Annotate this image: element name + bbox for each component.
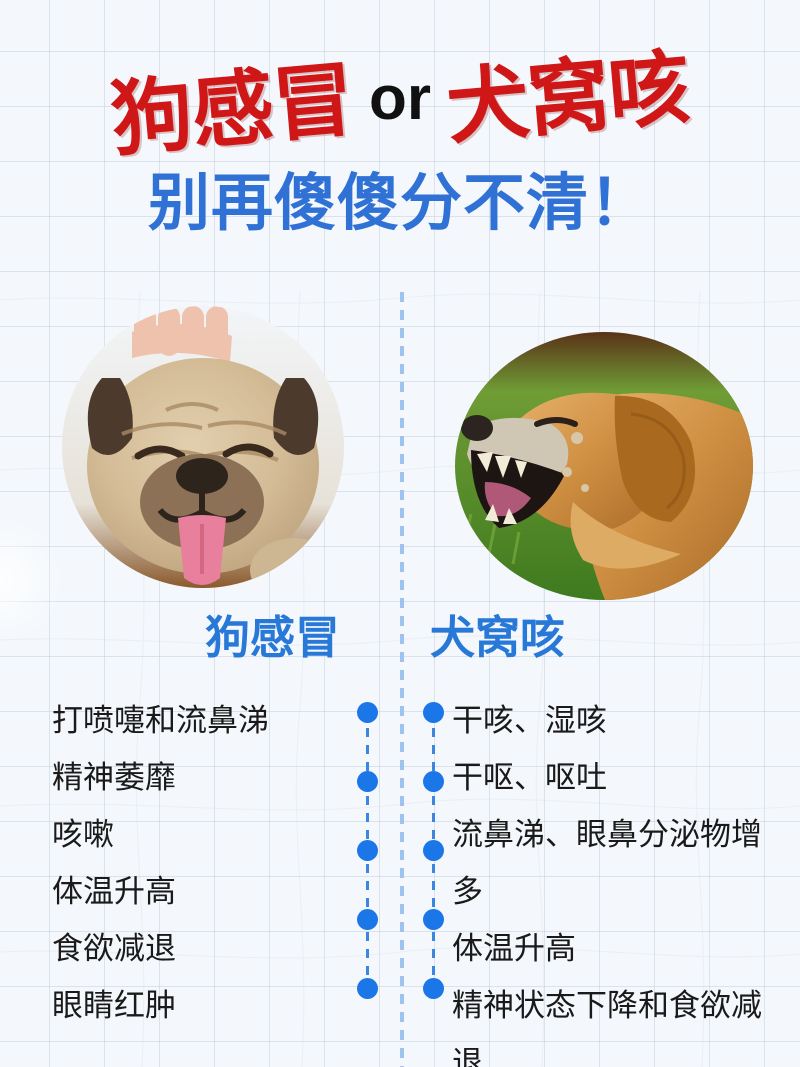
timeline-dot [357,771,378,792]
photo-dog-kennel-cough [455,332,753,600]
timeline-dot [423,840,444,861]
list-item: 精神状态下降和食欲减退 [452,977,782,1067]
list-item: 咳嗽 [52,806,342,863]
list-item: 流鼻涕、眼鼻分泌物增多 [452,806,782,920]
timeline-dot [423,909,444,930]
list-item: 干呕、呕吐 [452,749,782,806]
timeline-dot [423,702,444,723]
column-divider [400,292,404,1067]
symptom-list-cold: 打喷嚏和流鼻涕 精神萎靡 咳嗽 体温升高 食欲减退 眼睛红肿 [52,692,342,1034]
title-connector: or [369,68,431,130]
background-vignette [0,520,70,640]
list-item: 干咳、湿咳 [452,692,782,749]
symptom-list-kennel-cough: 干咳、湿咳 干呕、呕吐 流鼻涕、眼鼻分泌物增多 体温升高 精神状态下降和食欲减退 [452,692,782,1067]
bullet-timeline-kennel-cough [422,702,444,992]
timeline-dot [357,702,378,723]
poster-canvas: 狗感冒 or 犬窝咳 别再傻傻分不清！ [0,0,800,1067]
photo-dog-cold [62,306,344,588]
list-item: 眼睛红肿 [52,977,342,1034]
poster-subtitle: 别再傻傻分不清！ [0,170,800,238]
timeline-dot [357,909,378,930]
list-item: 体温升高 [52,863,342,920]
bullet-timeline-cold [356,702,378,992]
timeline-dot [423,771,444,792]
list-item: 打喷嚏和流鼻涕 [52,692,342,749]
column-header-cold: 狗感冒 [205,615,340,660]
poster-title: 狗感冒 or 犬窝咳 [0,42,800,160]
timeline-dot [423,978,444,999]
timeline-dot [357,978,378,999]
timeline-dot [357,840,378,861]
title-left-red: 狗感冒 [108,60,357,163]
title-right-red: 犬窝咳 [444,48,693,151]
column-header-kennel-cough: 犬窝咳 [430,615,565,660]
list-item: 精神萎靡 [52,749,342,806]
list-item: 食欲减退 [52,920,342,977]
list-item: 体温升高 [452,920,782,977]
